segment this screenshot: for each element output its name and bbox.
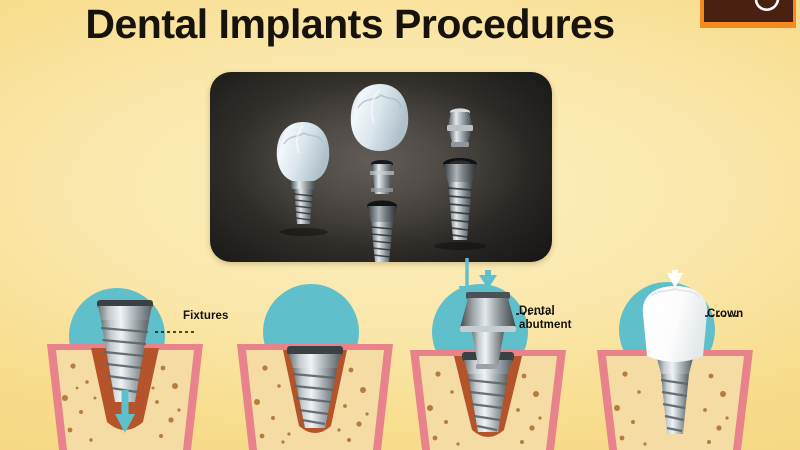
callout-dental-abutment: Dental abutment [519,305,572,332]
implant-components-illustration [210,72,552,262]
page-title: Dental Implants Procedures [0,0,700,50]
callout-crown: Crown [707,308,743,322]
step-crown-placement [575,270,775,450]
infographic-canvas: Dental Implants Procedures [0,0,800,450]
smile-logo-badge [700,0,796,28]
smile-arc-icon [751,0,785,19]
step-4-illustration [575,270,775,450]
callout-line-2: abutment [519,319,572,333]
step-2-illustration [215,270,415,450]
implant-components-photo-panel [210,72,552,262]
step-1-illustration [25,270,225,450]
step-fixture-seated [215,270,415,450]
step-abutment-placement [388,270,588,450]
step-3-illustration [388,270,588,450]
callout-line-1: Dental [519,305,572,319]
step-fixture-insertion [25,270,225,450]
badge-plate [704,0,793,22]
crown-placed [643,286,707,362]
